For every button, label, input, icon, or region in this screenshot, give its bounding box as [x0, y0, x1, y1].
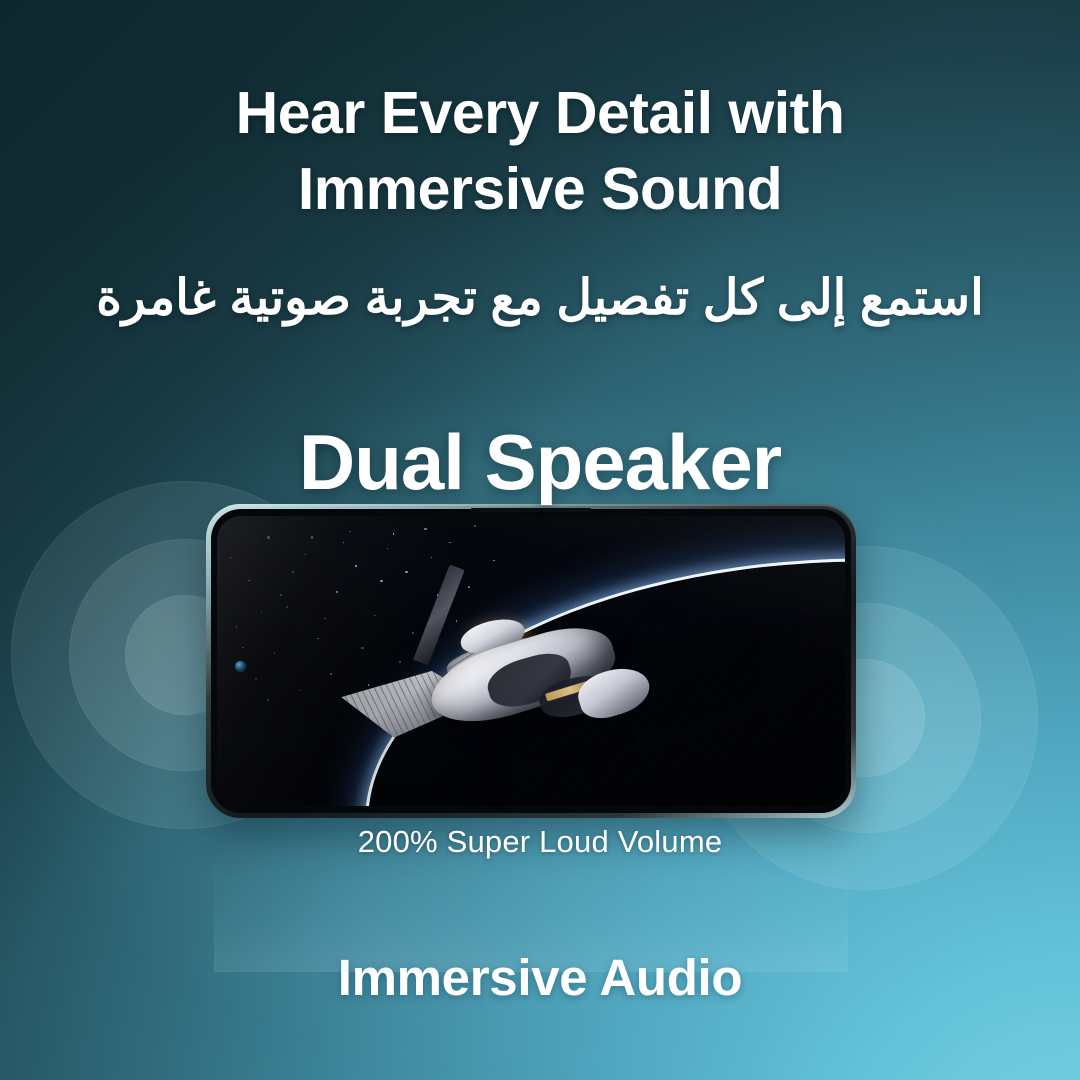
phone-bezel	[211, 509, 851, 813]
phone-screen	[217, 516, 845, 806]
feature-caption: 200% Super Loud Volume	[0, 824, 1080, 860]
page-title: Hear Every Detail with Immersive Sound	[0, 76, 1080, 227]
feature-title: Dual Speaker	[0, 417, 1080, 508]
wallpaper-space-shuttle	[336, 568, 663, 771]
phone-device	[206, 504, 856, 818]
camera-dot-icon	[235, 661, 246, 672]
earpiece-slot-icon	[471, 508, 591, 512]
phone-frame	[206, 504, 856, 818]
subheadline-arabic: استمع إلى كل تفصيل مع تجربة صوتية غامرة	[0, 265, 1080, 331]
promo-banner: Hear Every Detail with Immersive Sound ا…	[0, 0, 1080, 1080]
